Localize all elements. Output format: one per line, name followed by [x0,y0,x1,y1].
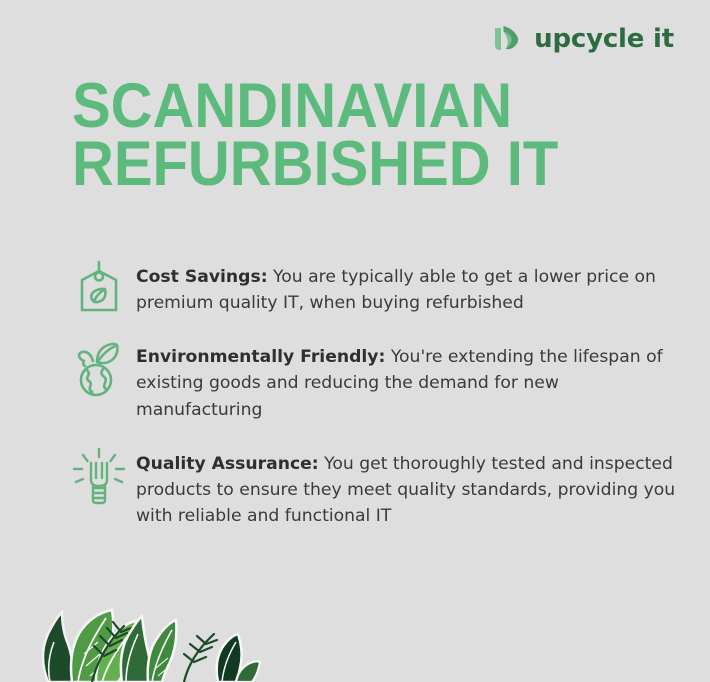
tropical-leaves-decoration [0,582,300,682]
price-tag-leaf-icon [70,258,128,316]
benefits-list: Cost Savings: You are typically able to … [70,258,684,551]
upcycle-arrow-mark-icon [492,22,522,56]
list-item-lead: Cost Savings: [136,267,268,287]
list-item: Cost Savings: You are typically able to … [70,258,684,316]
headline-line-2: REFURBISHED IT [72,136,558,194]
logo-wordmark: upcycle it [534,26,674,52]
list-item-lead: Quality Assurance: [136,454,319,474]
list-item: Environmentally Friendly: You're extendi… [70,338,684,422]
list-item-text: Cost Savings: You are typically able to … [128,258,684,316]
page-title: SCANDINAVIAN REFURBISHED IT [72,78,558,194]
list-item-text: Quality Assurance: You get thoroughly te… [128,445,684,529]
list-item: Quality Assurance: You get thoroughly te… [70,445,684,529]
list-item-lead: Environmentally Friendly: [136,347,385,367]
energy-saving-lightbulb-icon [70,445,128,507]
earth-sprout-leaf-icon [70,338,128,398]
brand-logo[interactable]: upcycle it [492,22,674,56]
headline-line-1: SCANDINAVIAN [72,78,558,136]
list-item-text: Environmentally Friendly: You're extendi… [128,338,684,422]
